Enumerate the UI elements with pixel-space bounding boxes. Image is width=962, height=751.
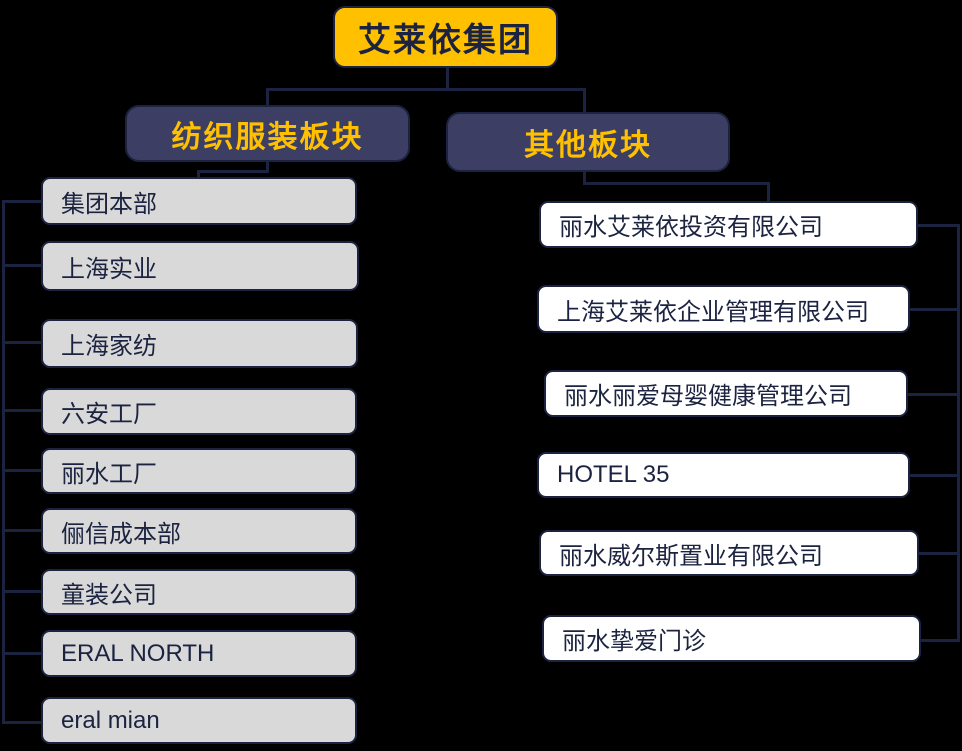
connector-root-to-right-section [583,88,586,113]
leaf-node-left-6[interactable]: 俪信成本部 [41,508,357,554]
leaf-node-left-9-label: eral mian [61,707,160,735]
connector-left-stub-6 [2,529,42,532]
leaf-node-left-5-label: 丽水工厂 [61,454,157,489]
leaf-node-left-9[interactable]: eral mian [41,697,357,744]
connector-left-section-bus [197,170,269,173]
connector-left-stub-5 [2,469,42,472]
section-node-label-other: 其他板块 [524,120,652,164]
leaf-node-left-7[interactable]: 童装公司 [41,569,357,615]
leaf-node-left-3[interactable]: 上海家纺 [41,319,358,368]
leaf-node-right-2[interactable]: 上海艾莱依企业管理有限公司 [537,285,910,333]
leaf-node-right-6[interactable]: 丽水挚爱门诊 [542,615,921,662]
leaf-node-left-3-label: 上海家纺 [61,326,157,361]
org-chart-canvas: 艾莱依集团 纺织服装板块 其他板块 集团本部 上海实业 上海家纺 六安工厂 丽水… [0,0,962,751]
connector-right-stub-1 [917,224,960,227]
connector-right-stub-5 [917,552,960,555]
connector-left-stub-9 [2,721,42,724]
connector-right-stub-3 [906,393,960,396]
leaf-node-left-2-label: 上海实业 [61,249,157,284]
connector-left-spine [2,200,5,724]
section-node-other[interactable]: 其他板块 [446,112,730,172]
leaf-node-right-5[interactable]: 丽水威尔斯置业有限公司 [539,530,919,576]
root-node-airyi-group[interactable]: 艾莱依集团 [333,6,558,68]
connector-root-bus [266,88,586,91]
leaf-node-left-5[interactable]: 丽水工厂 [41,448,357,494]
leaf-node-left-2[interactable]: 上海实业 [41,241,359,291]
leaf-node-right-4[interactable]: HOTEL 35 [537,452,910,498]
connector-left-stub-2 [2,264,42,267]
leaf-node-left-1-label: 集团本部 [61,184,157,219]
leaf-node-right-4-label: HOTEL 35 [557,461,670,489]
leaf-node-right-2-label: 上海艾莱依企业管理有限公司 [557,292,869,327]
leaf-node-left-8-label: ERAL NORTH [61,640,214,668]
connector-left-stub-3 [2,341,42,344]
leaf-node-left-4-label: 六安工厂 [61,394,157,429]
connector-right-section-bus [583,182,770,185]
leaf-node-right-3[interactable]: 丽水丽爱母婴健康管理公司 [544,370,908,417]
leaf-node-left-1[interactable]: 集团本部 [41,177,357,225]
leaf-node-right-1-label: 丽水艾莱依投资有限公司 [559,207,823,242]
section-node-textile-apparel[interactable]: 纺织服装板块 [125,105,410,162]
connector-left-stub-8 [2,652,42,655]
connector-root-stem [446,68,449,90]
connector-left-stub-4 [2,409,42,412]
leaf-node-left-7-label: 童装公司 [61,575,157,610]
leaf-node-left-4[interactable]: 六安工厂 [41,388,357,435]
leaf-node-left-8[interactable]: ERAL NORTH [41,630,357,677]
leaf-node-right-6-label: 丽水挚爱门诊 [562,621,706,656]
connector-right-stub-6 [918,639,960,642]
section-node-label-textile: 纺织服装板块 [172,112,364,156]
leaf-node-right-1[interactable]: 丽水艾莱依投资有限公司 [539,201,918,248]
connector-right-stub-4 [909,474,960,477]
connector-left-stub-7 [2,590,42,593]
leaf-node-left-6-label: 俪信成本部 [61,514,181,549]
leaf-node-right-3-label: 丽水丽爱母婴健康管理公司 [564,376,852,411]
root-node-label: 艾莱依集团 [358,13,533,61]
leaf-node-right-5-label: 丽水威尔斯置业有限公司 [559,536,823,571]
connector-right-stub-2 [909,308,960,311]
connector-right-spine [957,224,960,642]
connector-left-stub-1 [2,200,42,203]
